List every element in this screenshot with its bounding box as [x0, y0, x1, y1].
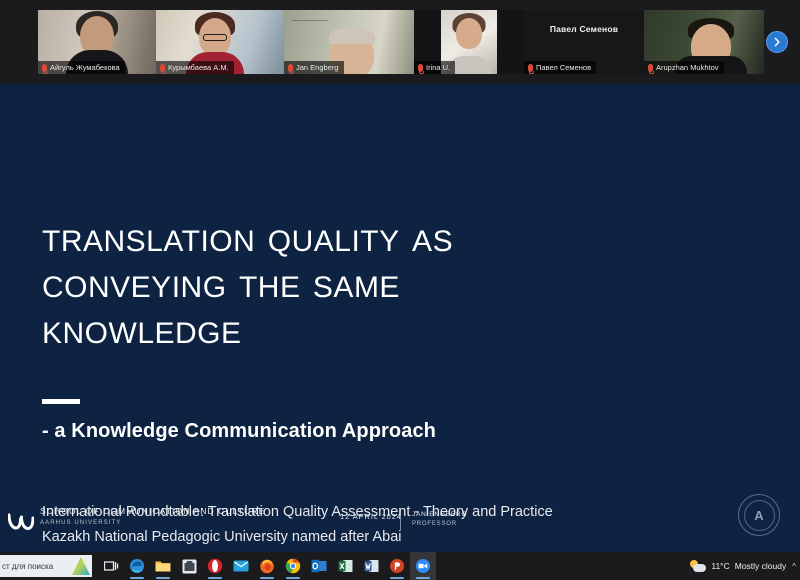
screen: Айгуль Жумабекова Курымбаева А.М. — [0, 0, 800, 580]
taskbar-app-zoom[interactable] — [410, 552, 436, 580]
participant-tile-4[interactable]: Irina U. — [414, 10, 524, 74]
participant-namebar-5: Павел Семенов — [524, 61, 596, 74]
taskbar-app-chrome[interactable] — [280, 552, 306, 580]
windows-taskbar: ст для поиска — [0, 552, 800, 580]
cortana-icon[interactable] — [72, 557, 90, 575]
taskbar-system-tray: 11°C Mostly cloudy ^ — [690, 560, 800, 573]
cloud-shape — [693, 564, 706, 572]
slide-title-line-1: Translation Quality as — [42, 214, 642, 260]
task-view-icon — [104, 560, 119, 573]
presentation-slide: Translation Quality as conveying the sam… — [0, 84, 800, 552]
microsoft-store-icon — [182, 559, 197, 574]
microphone-muted-icon — [648, 64, 653, 72]
microsoft-outlook-icon — [311, 559, 327, 573]
footer-presenter-title: PROFESSOR — [412, 521, 467, 527]
microphone-muted-icon — [528, 64, 533, 72]
taskbar-search-box[interactable]: ст для поиска — [0, 555, 92, 577]
taskbar-app-microsoft-store[interactable] — [176, 552, 202, 580]
footer-org-line-2: AARHUS UNIVERSITY — [40, 520, 265, 526]
opera-icon — [207, 558, 223, 574]
participant-namebar-2: Курымбаева А.М. — [156, 61, 234, 74]
zoom-icon — [415, 558, 431, 574]
chevron-right-icon — [772, 37, 782, 47]
taskbar-app-word[interactable] — [358, 552, 384, 580]
taskbar-app-file-explorer[interactable] — [150, 552, 176, 580]
participant-tile-5[interactable]: Павел Семенов Павел Семенов — [524, 10, 644, 74]
microsoft-word-icon — [364, 559, 379, 573]
partly-sunny-icon — [690, 560, 706, 573]
weather-condition: Mostly cloudy — [735, 561, 787, 571]
mail-icon — [233, 560, 249, 572]
taskbar-app-opera[interactable] — [202, 552, 228, 580]
taskbar-app-powerpoint[interactable] — [384, 552, 410, 580]
participant-namebar-4: Irina U. — [414, 61, 455, 74]
avatar-hair — [329, 28, 375, 44]
firefox-icon — [259, 558, 275, 574]
participant-name-2: Курымбаева А.М. — [168, 63, 229, 72]
task-view-button[interactable] — [98, 552, 124, 580]
microsoft-powerpoint-icon — [389, 558, 405, 574]
zoom-participant-filmstrip: Айгуль Жумабекова Курымбаева А.М. — [0, 0, 800, 84]
university-seal-icon: A — [738, 494, 780, 536]
aarhus-university-logo-icon — [8, 513, 34, 530]
footer-divider — [400, 508, 401, 530]
participant-name-4: Irina U. — [426, 63, 450, 72]
microsoft-excel-icon — [338, 559, 353, 573]
tray-expand-chevron-icon[interactable]: ^ — [792, 562, 796, 571]
avatar-glasses — [203, 34, 227, 41]
microphone-muted-icon — [288, 64, 293, 72]
taskbar-app-outlook[interactable] — [306, 552, 332, 580]
slide-subtitle: - a Knowledge Communication Approach — [42, 420, 662, 443]
slide-footer: SCHOOL OF COMMUNICATION AND CULTURE AARH… — [0, 486, 800, 552]
title-accent-rule — [42, 399, 80, 404]
participant-name-6: Arupzhan Mukhtov — [656, 63, 719, 72]
taskbar-app-icons — [98, 552, 436, 580]
taskbar-app-mail[interactable] — [228, 552, 254, 580]
footer-org-line-1: SCHOOL OF COMMUNICATION AND CULTURE — [40, 506, 265, 516]
slide-title-line-2: conveying the same — [42, 260, 642, 306]
slide-title-line-3: knowledge — [42, 306, 642, 352]
weather-temperature: 11°C — [711, 561, 729, 571]
avatar-head — [456, 18, 482, 49]
google-chrome-icon — [285, 558, 301, 574]
footer-presenter-name: JAN ENGBERG — [412, 511, 467, 518]
taskbar-weather-widget[interactable]: 11°C Mostly cloudy — [690, 560, 786, 573]
participant-tile-6[interactable]: Arupzhan Mukhtov — [644, 10, 764, 74]
participant-name-3: Jan Engberg — [296, 63, 339, 72]
participant-namebar-1: Айгуль Жумабекова — [38, 61, 125, 74]
participant-placeholder-name-5: Павел Семенов — [524, 24, 644, 34]
participant-name-5: Павел Семенов — [536, 63, 591, 72]
seal-inner-ring: A — [744, 500, 775, 531]
microphone-muted-icon — [42, 64, 47, 72]
taskbar-app-firefox[interactable] — [254, 552, 280, 580]
footer-org: SCHOOL OF COMMUNICATION AND CULTURE AARH… — [40, 506, 265, 526]
taskbar-app-excel[interactable] — [332, 552, 358, 580]
file-explorer-icon — [155, 559, 171, 573]
filmstrip-next-page-button[interactable] — [766, 31, 788, 53]
participant-tile-3[interactable]: Jan Engberg — [284, 10, 414, 74]
microphone-muted-icon — [418, 64, 423, 72]
slide-title: Translation Quality as conveying the sam… — [42, 214, 642, 352]
participant-name-1: Айгуль Жумабекова — [50, 63, 120, 72]
taskbar-search-placeholder: ст для поиска — [2, 562, 53, 571]
participant-namebar-3: Jan Engberg — [284, 61, 344, 74]
participant-namebar-6: Arupzhan Mukhtov — [644, 61, 724, 74]
participant-tile-2[interactable]: Курымбаева А.М. — [156, 10, 284, 74]
background-detail — [292, 20, 328, 21]
microphone-muted-icon — [160, 64, 165, 72]
taskbar-app-edge[interactable] — [124, 552, 150, 580]
participant-tile-1[interactable]: Айгуль Жумабекова — [38, 10, 156, 74]
footer-presenter: JAN ENGBERG PROFESSOR — [412, 511, 467, 527]
footer-date: 12 APRIL 2024 — [340, 512, 402, 521]
filmstrip-left-pad — [0, 0, 38, 84]
microsoft-edge-icon — [129, 558, 145, 574]
